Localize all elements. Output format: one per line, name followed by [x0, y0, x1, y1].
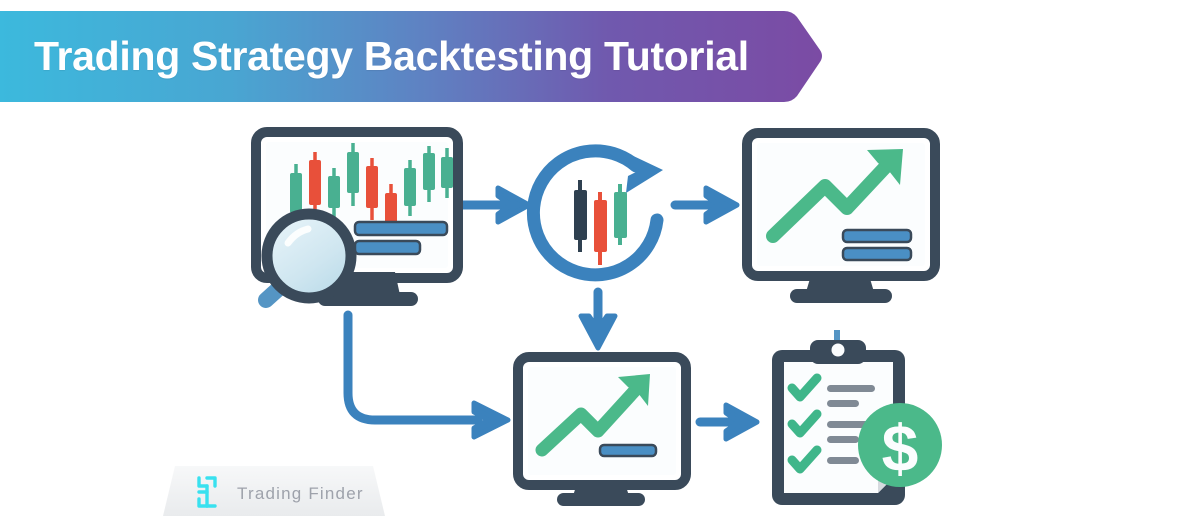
- dollar-coin-badge: $: [858, 403, 942, 487]
- node-market-data-analysis[interactable]: [256, 132, 458, 306]
- node-performance-results[interactable]: [747, 133, 935, 303]
- arrow-data-to-optimization-elbow: [348, 315, 508, 437]
- node-backtest-loop[interactable]: [533, 151, 663, 275]
- arrow-optimization-to-validated: [700, 405, 757, 439]
- loop-candle-green: [614, 184, 627, 245]
- arrow-loop-to-results: [675, 188, 737, 222]
- blue-data-bar: [600, 445, 656, 456]
- page-root: Trading Strategy Backtesting Tutorial: [0, 0, 1200, 525]
- arrow-loop-to-optimization: [581, 292, 615, 348]
- node-optimization-chart[interactable]: [518, 357, 686, 506]
- header-banner: Trading Strategy Backtesting Tutorial: [0, 0, 824, 113]
- loop-candle-navy: [574, 180, 587, 252]
- arrow-data-to-loop: [463, 188, 529, 222]
- magnifying-glass: [266, 214, 351, 300]
- loop-candle-red: [594, 192, 607, 265]
- dollar-sign-icon: $: [882, 411, 919, 485]
- loop-candlesticks: [574, 180, 627, 265]
- page-title: Trading Strategy Backtesting Tutorial: [34, 0, 749, 113]
- clipboard-clip-hole: [832, 344, 845, 357]
- trading-finder-logo[interactable]: Trading Finder: [163, 466, 385, 525]
- node-validated-profit[interactable]: $: [772, 330, 942, 505]
- circular-arrow-head: [625, 152, 663, 193]
- logo-text: Trading Finder: [237, 484, 364, 504]
